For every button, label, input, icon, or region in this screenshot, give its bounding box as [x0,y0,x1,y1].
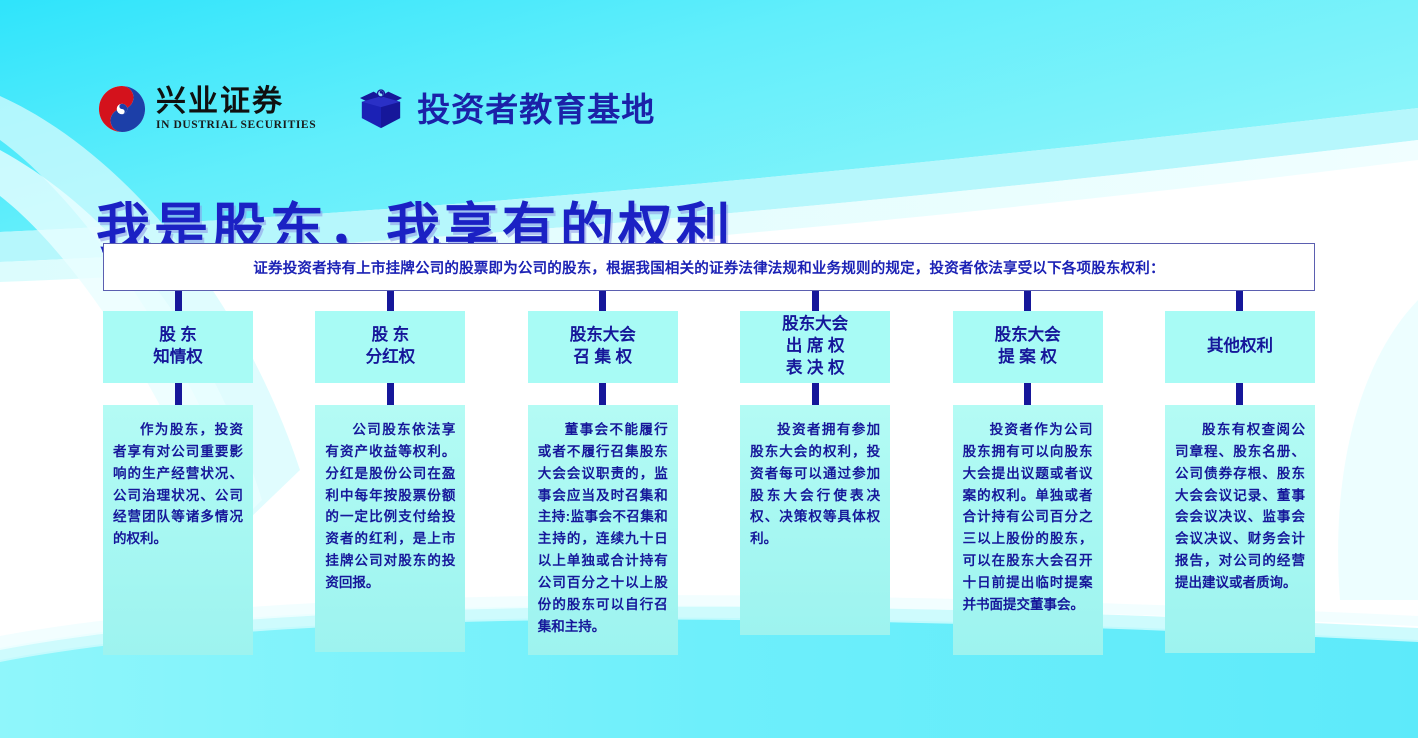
card-body-text: 作为股东，投资者享有对公司重要影响的生产经营状况、公司治理状况、公司经营团队等诸… [113,419,243,550]
connector-stub-top [1024,291,1031,311]
connector-stub-top [599,291,606,311]
card-header-line: 表 决 权 [786,358,845,380]
brand-name-cn: 兴业证券 [156,87,316,117]
connector-stub-top [812,291,819,311]
connector-stub-top [175,291,182,311]
intro-statement-text: 证券投资者持有上市挂牌公司的股票即为公司的股东，根据我国相关的证券法律法规和业务… [253,257,1164,278]
card-header-line: 股东大会 [570,325,636,347]
card-header-line: 召 集 权 [573,347,632,369]
rights-column-convene: 股东大会 召 集 权 董事会不能履行或者不履行召集股东大会会议职责的，监事会应当… [528,291,678,661]
connector-stub-bottom [1236,383,1243,405]
card-body-proposal: 投资者作为公司股东拥有可以向股东大会提出议题或者议案的权利。单独或者合计持有公司… [953,405,1103,655]
card-header-dividend[interactable]: 股 东 分红权 [315,311,465,383]
connector-stub-bottom [175,383,182,405]
connector-stub-bottom [812,383,819,405]
card-header-other[interactable]: 其他权利 [1165,311,1315,383]
card-header-line: 知情权 [153,347,203,369]
rights-column-information: 股 东 知情权 作为股东，投资者享有对公司重要影响的生产经营状况、公司治理状况、… [103,291,253,661]
card-header-line: 股东大会 [782,314,848,336]
card-body-text: 股东有权查阅公司章程、股东名册、公司债券存根、股东大会会议记录、董事会会议决议、… [1175,419,1305,594]
card-body-text: 投资者作为公司股东拥有可以向股东大会提出议题或者议案的权利。单独或者合计持有公司… [963,419,1093,616]
rights-column-proposal: 股东大会 提 案 权 投资者作为公司股东拥有可以向股东大会提出议题或者议案的权利… [953,291,1103,661]
open-box-icon [358,88,404,130]
rights-column-other: 其他权利 股东有权查阅公司章程、股东名册、公司债券存根、股东大会会议记录、董事会… [1165,291,1315,661]
connector-stub-top [1236,291,1243,311]
card-header-information[interactable]: 股 东 知情权 [103,311,253,383]
poster-root: 兴业证券 IN DUSTRIAL SECURITIES 投资者教育基地 我是股 [0,0,1418,738]
card-body-attend-vote: 投资者拥有参加股东大会的权利，投资者每可以通过参加股东大会行使表决权、决策权等具… [740,405,890,635]
investor-education-base-logo: 投资者教育基地 [358,88,655,130]
rights-column-attend-vote: 股东大会 出 席 权 表 决 权 投资者拥有参加股东大会的权利，投资者每可以通过… [740,291,890,661]
card-header-proposal[interactable]: 股东大会 提 案 权 [953,311,1103,383]
card-header-convene[interactable]: 股东大会 召 集 权 [528,311,678,383]
card-header-line: 股 东 [372,325,410,347]
card-header-line: 股 东 [159,325,197,347]
connector-stub-bottom [1024,383,1031,405]
card-body-text: 公司股东依法享有资产收益等权利。分红是股份公司在盈利中每年按股票份额的一定比例支… [325,419,455,594]
card-body-other: 股东有权查阅公司章程、股东名册、公司债券存根、股东大会会议记录、董事会会议决议、… [1165,405,1315,653]
industrial-securities-logo: 兴业证券 IN DUSTRIAL SECURITIES [98,85,316,133]
brand-name-en: IN DUSTRIAL SECURITIES [156,120,316,132]
rights-columns: 股 东 知情权 作为股东，投资者享有对公司重要影响的生产经营状况、公司治理状况、… [103,291,1315,661]
intro-statement-box: 证券投资者持有上市挂牌公司的股票即为公司的股东，根据我国相关的证券法律法规和业务… [103,243,1315,291]
rights-column-dividend: 股 东 分红权 公司股东依法享有资产收益等权利。分红是股份公司在盈利中每年按股票… [315,291,465,661]
card-body-text: 投资者拥有参加股东大会的权利，投资者每可以通过参加股东大会行使表决权、决策权等具… [750,419,880,550]
card-header-line: 提 案 权 [998,347,1057,369]
card-header-line: 其他权利 [1207,336,1273,358]
card-header-attend-vote[interactable]: 股东大会 出 席 权 表 决 权 [740,311,890,383]
connector-stub-top [387,291,394,311]
connector-stub-bottom [387,383,394,405]
card-body-convene: 董事会不能履行或者不履行召集股东大会会议职责的，监事会应当及时召集和主持:监事会… [528,405,678,655]
taiji-swirl-icon [98,85,146,133]
card-body-dividend: 公司股东依法享有资产收益等权利。分红是股份公司在盈利中每年按股票份额的一定比例支… [315,405,465,652]
card-body-text: 董事会不能履行或者不履行召集股东大会会议职责的，监事会应当及时召集和主持:监事会… [538,419,668,638]
connector-stub-bottom [599,383,606,405]
card-header-line: 出 席 权 [786,336,845,358]
card-header-line: 股东大会 [995,325,1061,347]
brand-header: 兴业证券 IN DUSTRIAL SECURITIES 投资者教育基地 [98,78,655,140]
card-header-line: 分红权 [366,347,416,369]
education-base-title: 投资者教育基地 [417,93,655,126]
card-body-information: 作为股东，投资者享有对公司重要影响的生产经营状况、公司治理状况、公司经营团队等诸… [103,405,253,655]
